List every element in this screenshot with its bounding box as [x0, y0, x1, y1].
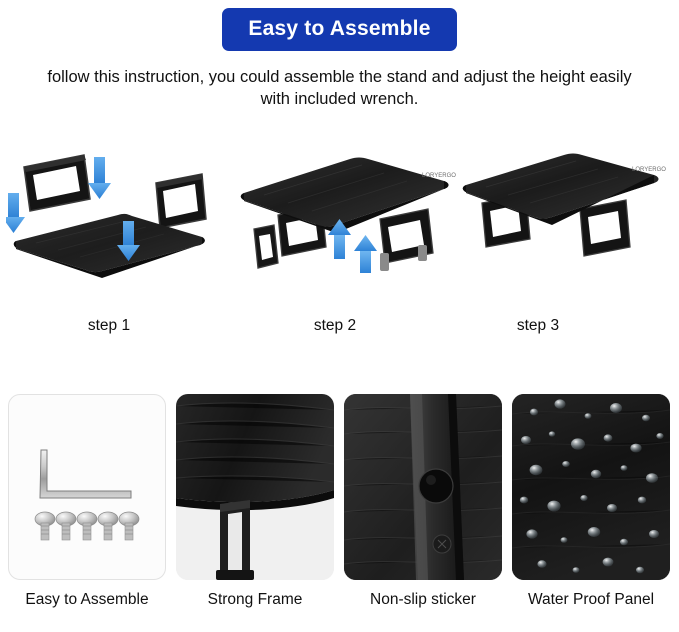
leg-left-part: [24, 155, 90, 211]
up-arrow-icon: [354, 235, 377, 273]
svg-text:LORYERGO: LORYERGO: [632, 167, 666, 173]
feature-water-proof-panel: Water Proof Panel: [512, 394, 670, 610]
feature-image-waterproof: [512, 394, 670, 580]
leg-front-left: [254, 225, 278, 268]
feature-easy-to-assemble: Easy to Assemble: [8, 394, 166, 610]
step-2-caption: step 2: [265, 317, 405, 335]
height-adjuster: [418, 245, 427, 261]
down-arrow-icon: [88, 157, 111, 199]
subtitle: follow this instruction, you could assem…: [36, 66, 644, 111]
stand-corner-frame-icon: [176, 394, 334, 580]
step-1-caption: step 1: [39, 317, 179, 335]
svg-text:LORYERGO: LORYERGO: [422, 173, 456, 179]
step-3-caption: step 3: [468, 317, 608, 335]
page-title-badge: Easy to Assemble: [222, 8, 456, 51]
feature-image-wrench: [8, 394, 166, 580]
feature-label-non-slip-sticker: Non-slip sticker: [344, 591, 502, 610]
header: Easy to Assemble: [0, 0, 679, 51]
leg-right-part: [156, 174, 206, 228]
wrench-and-screws-icon: [9, 395, 166, 580]
down-arrow-icon: [6, 193, 25, 233]
feature-image-frame: [176, 394, 334, 580]
assembly-steps: LORYERGO: [0, 137, 679, 342]
subtitle-line-1: follow this instruction, you could assem…: [47, 68, 585, 86]
feature-label-easy-to-assemble: Easy to Assemble: [8, 591, 166, 610]
feature-panels: Easy to Assemble: [0, 394, 679, 610]
feature-label-water-proof-panel: Water Proof Panel: [512, 591, 670, 610]
leg-front-right: [580, 200, 630, 256]
step-captions: step 1 step 2 step 3: [0, 317, 679, 341]
step-1-illustration: [6, 137, 236, 312]
water-droplets-panel-icon: [512, 394, 670, 580]
non-slip-sticker-icon: [344, 394, 502, 580]
step-2-illustration: LORYERGO: [232, 137, 457, 312]
step-3-illustration: LORYERGO: [460, 137, 670, 312]
feature-label-strong-frame: Strong Frame: [176, 591, 334, 610]
feature-strong-frame: Strong Frame: [176, 394, 334, 610]
feature-non-slip-sticker: Non-slip sticker: [344, 394, 502, 610]
feature-image-sticker: [344, 394, 502, 580]
height-adjuster: [380, 253, 389, 271]
